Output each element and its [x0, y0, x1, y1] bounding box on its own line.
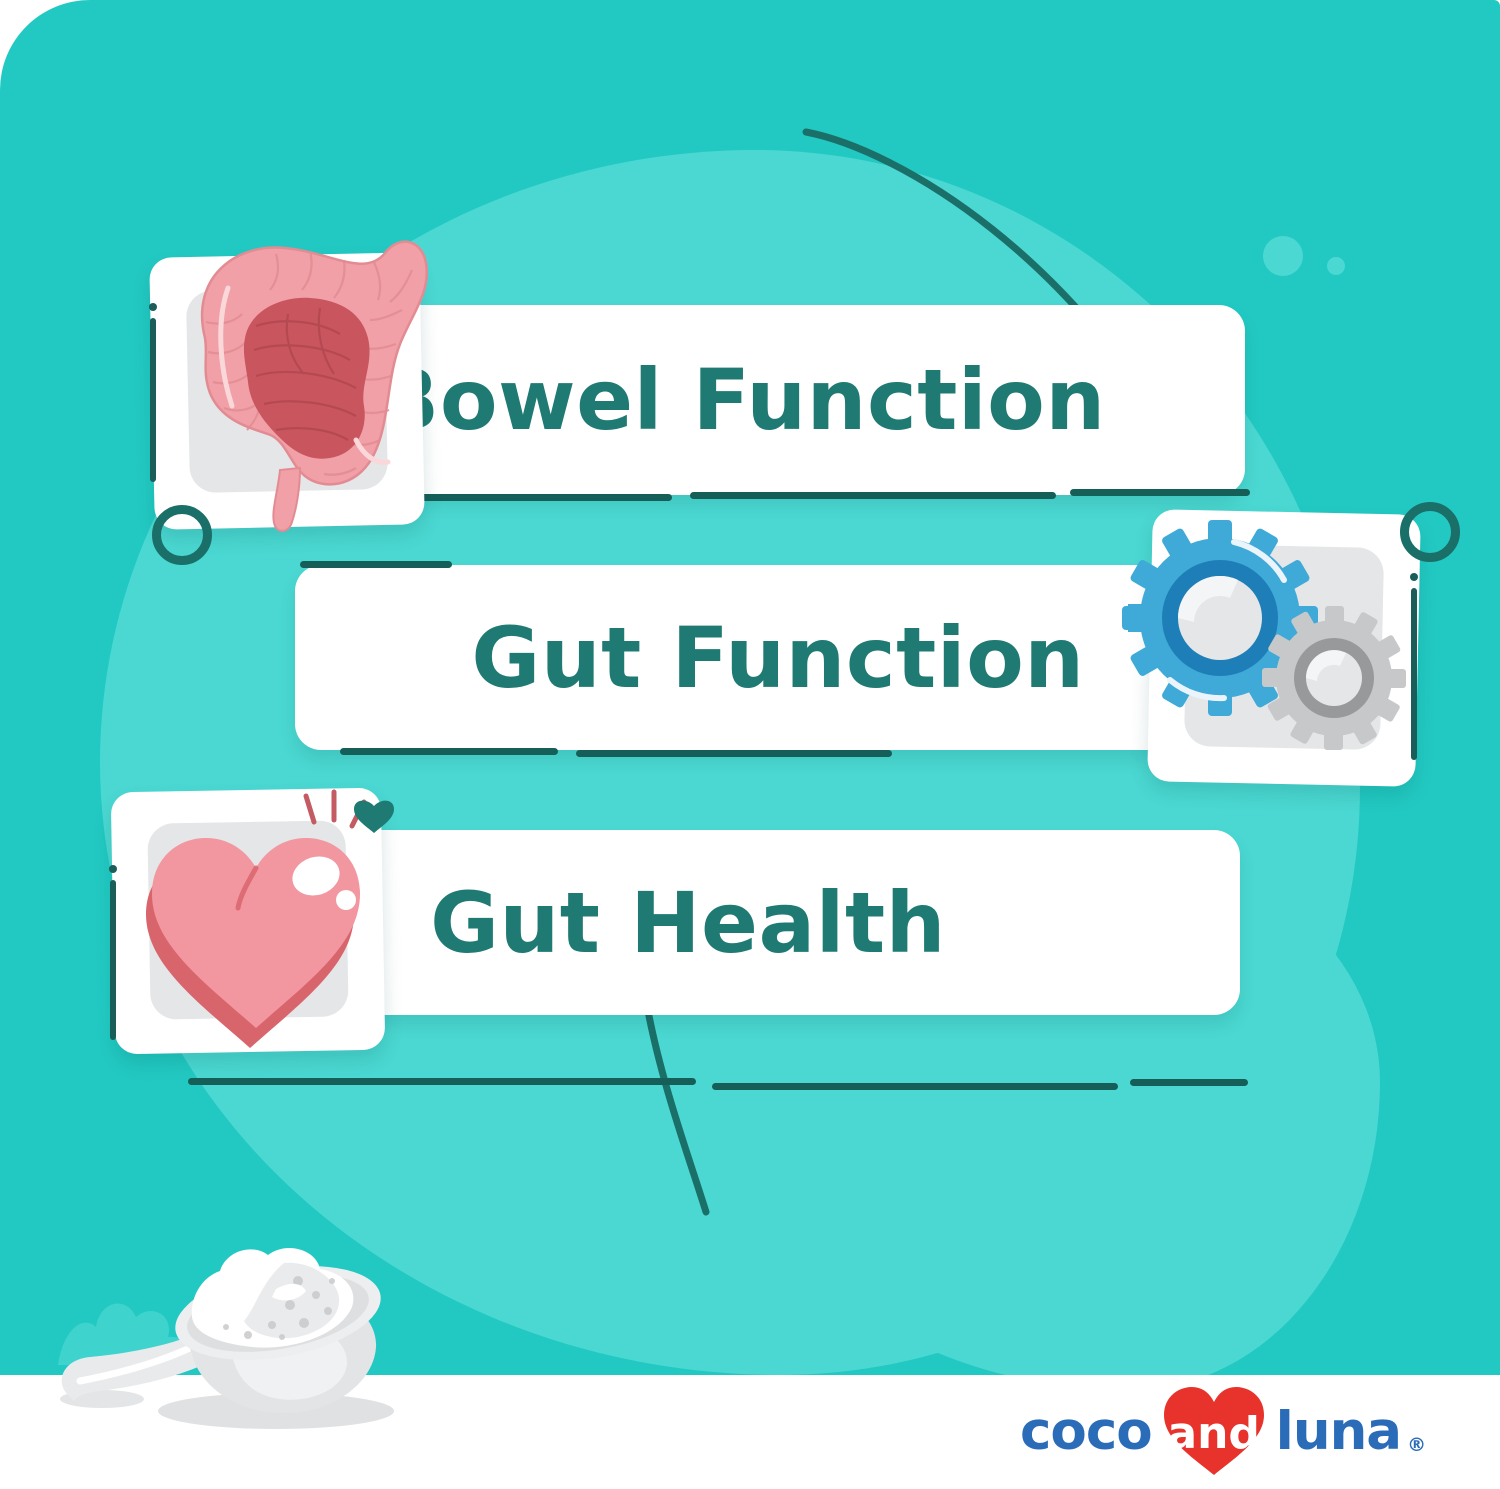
intestines-icon	[150, 218, 440, 538]
edge-tick-line	[110, 880, 116, 1040]
logo-word-coco: coco	[1020, 1401, 1152, 1462]
heart-icon	[108, 778, 398, 1068]
benefit-label: Gut Function	[471, 609, 1084, 707]
edge-tick-dot	[109, 865, 117, 873]
ring-decoration-right	[1400, 502, 1460, 562]
ring-decoration-left	[152, 505, 212, 565]
bar-underline-stroke	[1130, 1079, 1248, 1086]
bar-underline-stroke	[690, 492, 1056, 499]
benefit-label: Gut Health	[430, 874, 946, 972]
logo-word-luna: luna	[1276, 1401, 1401, 1462]
edge-tick-line	[1411, 588, 1417, 760]
edge-tick-dot	[1410, 573, 1418, 581]
bar-underline-stroke	[1070, 489, 1250, 496]
bar-underline-stroke	[340, 748, 558, 755]
edge-tick-dot	[149, 303, 157, 311]
logo-word-and: and	[1167, 1408, 1260, 1459]
logo-heart-mark: and	[1158, 1383, 1270, 1479]
bar-underline-stroke	[404, 494, 672, 501]
measuring-scoop-icon	[40, 1185, 460, 1445]
edge-tick-line	[150, 318, 156, 482]
promo-graphic: Bowel Function Gut Function Gut Health	[0, 0, 1500, 1489]
benefit-label: Bowel Function	[375, 351, 1105, 449]
bar-underline-stroke	[576, 750, 892, 757]
brand-logo: coco and luna ®	[1020, 1398, 1426, 1464]
bubble-decoration-small	[1327, 257, 1345, 275]
bubble-decoration-large	[1263, 236, 1303, 276]
registered-trademark: ®	[1407, 1434, 1426, 1456]
bar-underline-stroke	[712, 1083, 1118, 1090]
gears-icon	[1112, 500, 1432, 800]
bar-topline-stroke	[300, 561, 452, 568]
bar-underline-stroke	[188, 1078, 696, 1085]
